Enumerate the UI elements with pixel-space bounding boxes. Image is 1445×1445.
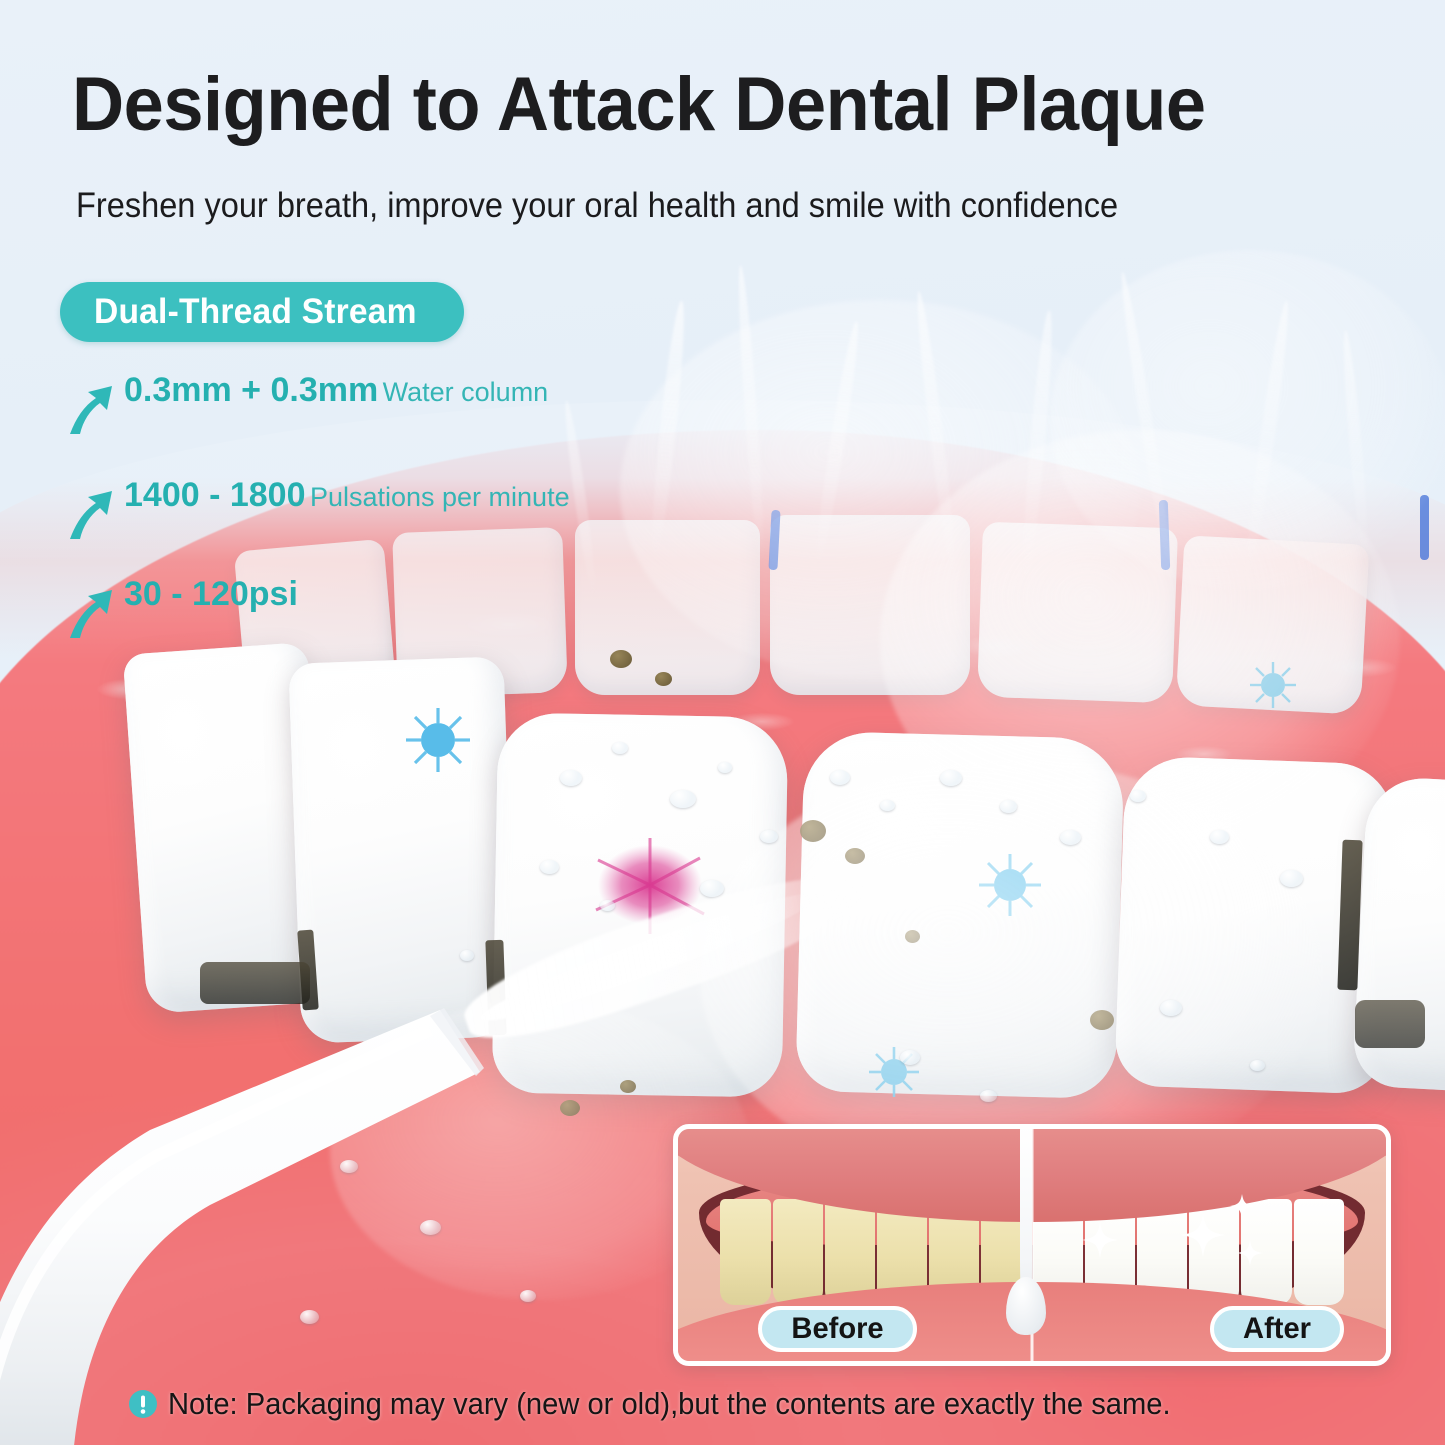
arrow-up-swoosh-icon (66, 578, 118, 645)
water-droplet (760, 830, 778, 843)
water-droplet (460, 950, 474, 961)
water-droplet (940, 770, 962, 786)
water-droplet (1160, 1000, 1182, 1016)
packaging-note: Note: Packaging may vary (new or old),bu… (128, 1386, 1235, 1422)
arrow-up-swoosh-icon (66, 479, 118, 546)
feature-item-water-column: 0.3mm + 0.3mm Water column (66, 372, 586, 441)
feature-badge: Dual-Thread Stream (60, 282, 464, 342)
water-droplet (880, 800, 895, 811)
feature-value: 1400 - 1800 (124, 476, 306, 514)
sparkle-icon (1237, 1240, 1263, 1266)
water-droplet (670, 790, 696, 808)
after-label: After (1243, 1312, 1311, 1346)
water-droplet (900, 1050, 920, 1065)
water-droplet (1060, 830, 1081, 845)
water-droplet (600, 900, 615, 911)
feature-list: 0.3mm + 0.3mm Water column 1400 - 1800 P… (66, 372, 586, 673)
tooth-after (1294, 1199, 1344, 1306)
sparkle-icon (1181, 1213, 1225, 1257)
water-droplet (700, 880, 724, 897)
water-droplet (1130, 790, 1146, 802)
page-subtitle: Freshen your breath, improve your oral h… (76, 186, 1313, 226)
water-droplet (560, 770, 582, 786)
tartar-deposit (1355, 1000, 1425, 1048)
water-droplet (1210, 830, 1229, 844)
water-droplet (1000, 800, 1017, 813)
feature-item-pulsations: 1400 - 1800 Pulsations per minute (66, 477, 586, 546)
before-label-pill: Before (758, 1306, 917, 1352)
before-label: Before (791, 1312, 883, 1346)
feature-badge-label: Dual-Thread Stream (94, 292, 417, 332)
water-droplet (1280, 870, 1303, 887)
flosser-nozzle (0, 1000, 520, 1445)
exclamation-circle-icon (128, 1389, 158, 1419)
water-droplet (718, 762, 732, 773)
water-droplet (980, 1090, 997, 1102)
before-after-comparison: Before After (673, 1124, 1391, 1366)
sparkle-icon (1082, 1222, 1118, 1258)
food-debris (655, 672, 672, 686)
tooth-before (773, 1199, 823, 1306)
water-droplet (830, 770, 850, 785)
product-infographic: Designed to Attack Dental Plaque Freshen… (0, 0, 1445, 1445)
water-droplet (612, 742, 628, 754)
sparkle-icon (1230, 1194, 1254, 1218)
water-droplet (1250, 1060, 1265, 1071)
tooth-before (720, 1199, 770, 1306)
arrow-up-swoosh-icon (66, 374, 118, 441)
page-title: Designed to Attack Dental Plaque (72, 67, 1336, 143)
feature-value: 0.3mm + 0.3mm (124, 371, 378, 409)
packaging-note-text: Note: Packaging may vary (new or old),bu… (168, 1386, 1171, 1422)
feature-value: 30 - 120psi (124, 575, 298, 613)
after-label-pill: After (1210, 1306, 1344, 1352)
food-debris (610, 650, 632, 668)
feature-sublabel: Pulsations per minute (310, 482, 570, 512)
feature-sublabel: Water column (383, 377, 549, 407)
feature-item-pressure: 30 - 120psi (66, 576, 586, 645)
smile-comparison-photo: Before After (678, 1129, 1386, 1361)
water-droplet (540, 860, 559, 874)
bacteria-icon (398, 700, 478, 780)
tartar-deposit (200, 962, 310, 1004)
water-droplet (520, 1290, 536, 1302)
